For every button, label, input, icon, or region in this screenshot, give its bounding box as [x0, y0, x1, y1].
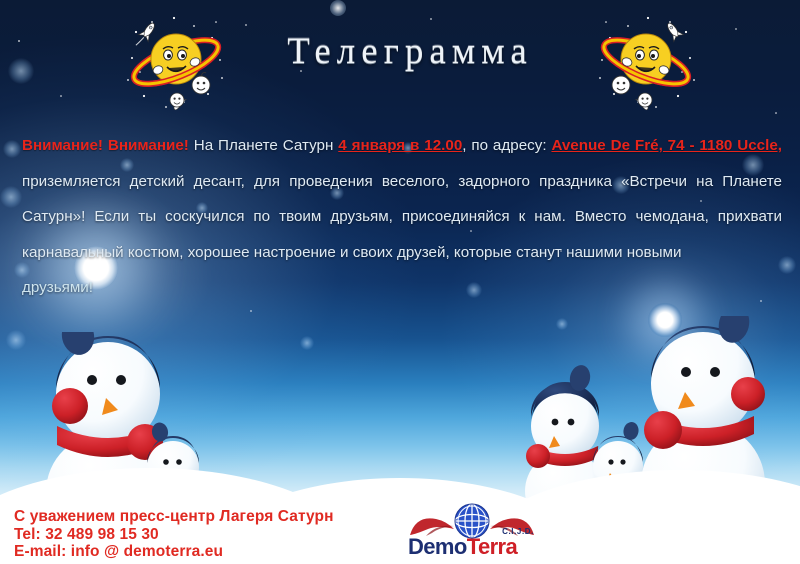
saturn-planet-icon-right [592, 12, 700, 116]
logo-name-terra: Terra [467, 534, 517, 559]
alert-label: Внимание! Внимание! [22, 137, 189, 154]
page-title: Телеграмма [255, 30, 565, 73]
text-segment-1: На Планете Сатурн [189, 137, 338, 154]
demoterra-logo: C.I.J.D. DemoTerra [408, 503, 536, 561]
contact-block: С уважением пресс-центр Лагеря Сатурн Te… [14, 508, 334, 561]
logo-name-demo: Demo [408, 534, 467, 559]
text-segment-3: приземляется детский десант, для проведе… [22, 173, 782, 261]
contact-line-press-center: С уважением пресс-центр Лагеря Сатурн [14, 508, 334, 526]
logo-wordmark: DemoTerra [408, 534, 517, 560]
moon-glow-icon-top [330, 0, 346, 16]
text-segment-2: , по адресу: [462, 137, 551, 154]
announcement-paragraph: Внимание! Внимание! На Планете Сатурн 4 … [22, 128, 782, 270]
date-time-label: 4 января в 12.00 [338, 137, 462, 154]
saturn-planet-icon-left [122, 12, 230, 116]
contact-line-email: E-mail: info @ demoterra.eu [14, 543, 334, 561]
poster-canvas: Телеграмма Внимание! Внимание! На Планет… [0, 0, 800, 564]
address-label: Avenue De Fré, 74 - 1180 Uccle, [551, 137, 782, 154]
contact-line-phone: Tel: 32 489 98 15 30 [14, 526, 334, 544]
announcement-text: Внимание! Внимание! На Планете Сатурн 4 … [22, 128, 782, 306]
announcement-last-line: друзьями! [22, 270, 782, 306]
